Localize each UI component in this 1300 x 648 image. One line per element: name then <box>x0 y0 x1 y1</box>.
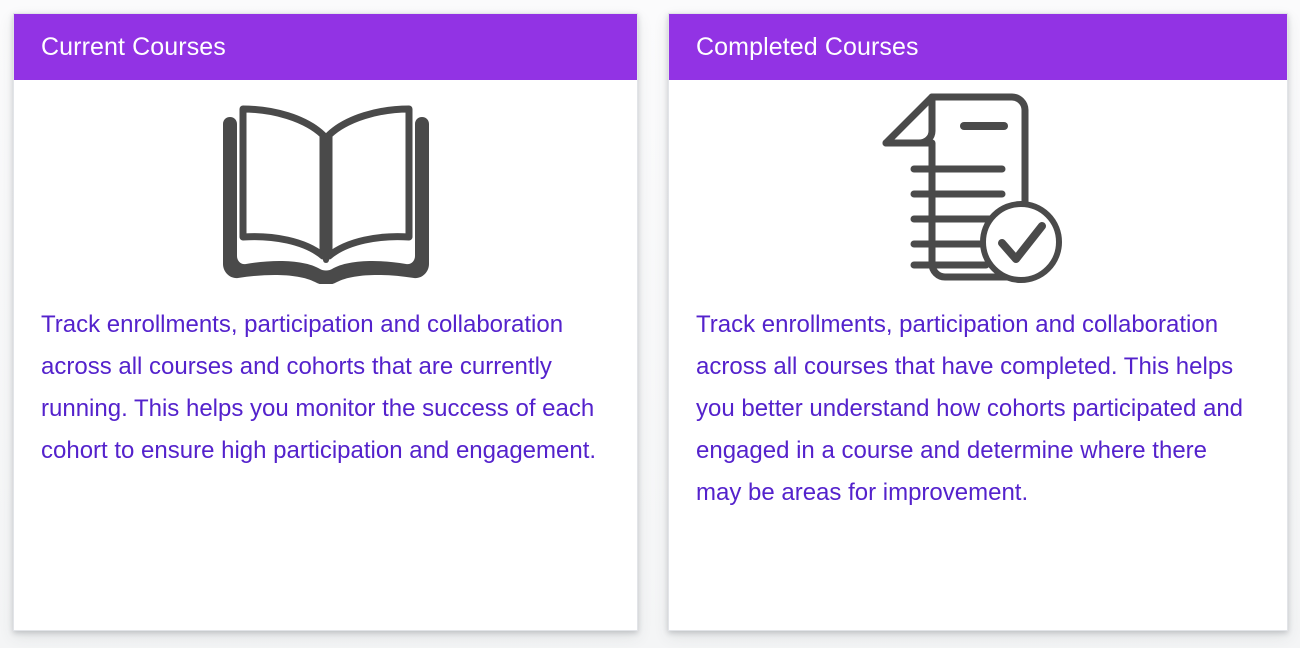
current-courses-card[interactable]: Current Courses Track enrollments, parti… <box>13 13 638 631</box>
open-book-icon-wrap <box>41 80 610 302</box>
completed-courses-card-body: Track enrollments, participation and col… <box>669 80 1287 514</box>
document-check-icon <box>882 93 1074 289</box>
completed-courses-card[interactable]: Completed Courses <box>668 13 1288 631</box>
cards-board: Current Courses Track enrollments, parti… <box>0 0 1300 648</box>
open-book-icon <box>213 98 439 284</box>
completed-courses-description: Track enrollments, participation and col… <box>696 302 1256 514</box>
completed-courses-title: Completed Courses <box>696 35 919 60</box>
current-courses-card-body: Track enrollments, participation and col… <box>14 80 637 472</box>
document-check-icon-wrap <box>696 80 1260 302</box>
current-courses-description: Track enrollments, participation and col… <box>41 302 606 472</box>
current-courses-title: Current Courses <box>41 35 226 60</box>
current-courses-card-header: Current Courses <box>14 14 637 80</box>
completed-courses-card-header: Completed Courses <box>669 14 1287 80</box>
